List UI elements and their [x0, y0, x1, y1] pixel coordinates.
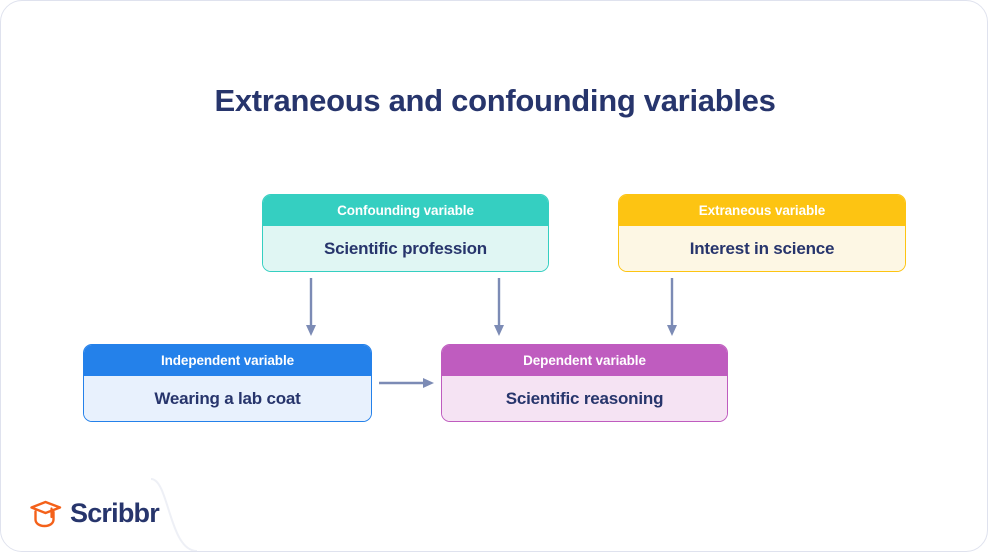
box-independent-header: Independent variable: [84, 345, 371, 376]
box-extraneous-header: Extraneous variable: [619, 195, 905, 226]
box-dependent-value: Scientific reasoning: [442, 376, 727, 421]
box-independent-variable: Independent variable Wearing a lab coat: [83, 344, 372, 422]
box-confounding-header: Confounding variable: [263, 195, 548, 226]
diagram-canvas: Extraneous and confounding variables Con…: [0, 0, 988, 552]
box-extraneous-variable: Extraneous variable Interest in science: [618, 194, 906, 272]
box-confounding-variable: Confounding variable Scientific professi…: [262, 194, 549, 272]
page-title: Extraneous and confounding variables: [1, 83, 988, 119]
box-extraneous-value: Interest in science: [619, 226, 905, 271]
brand-name: Scribbr: [70, 498, 159, 529]
box-dependent-variable: Dependent variable Scientific reasoning: [441, 344, 728, 422]
brand-logo: Scribbr: [29, 498, 159, 529]
brand-logo-tab: Scribbr: [1, 469, 206, 551]
box-independent-value: Wearing a lab coat: [84, 376, 371, 421]
box-dependent-header: Dependent variable: [442, 345, 727, 376]
graduation-cap-icon: [29, 499, 63, 529]
box-confounding-value: Scientific profession: [263, 226, 548, 271]
